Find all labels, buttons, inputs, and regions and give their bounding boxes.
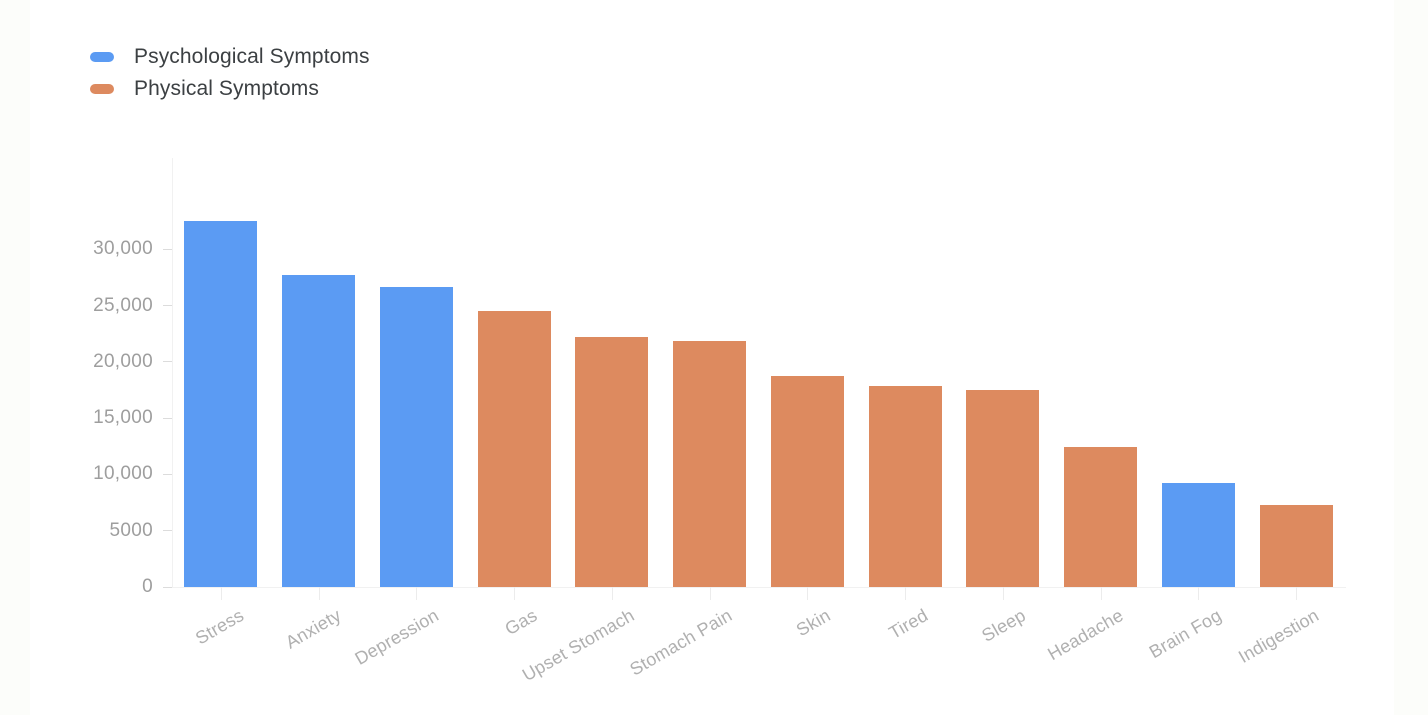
legend-item-label: Psychological Symptoms [134,45,370,69]
y-axis-tick-mark [163,474,172,475]
y-axis-tick-mark [163,587,172,588]
bar[interactable] [966,390,1039,588]
bar[interactable] [1162,483,1235,587]
x-axis-tick-mark [1003,587,1004,600]
x-axis-tick-mark [221,587,222,600]
chart-legend: Psychological SymptomsPhysical Symptoms [90,44,370,102]
y-axis-tick-label: 10,000 [93,463,153,485]
y-axis-tick-label: 20,000 [93,351,153,373]
bar[interactable] [1260,505,1333,587]
x-axis-tick-mark [905,587,906,600]
bar[interactable] [869,386,942,587]
y-axis-tick-mark [163,530,172,531]
bar[interactable] [184,221,257,587]
bar-slot: Brain Fog [1162,210,1235,587]
x-axis-tick-mark [319,587,320,600]
legend-item-label: Physical Symptoms [134,77,319,101]
bar-slot: Tired [869,210,942,587]
x-axis-tick-mark [1296,587,1297,600]
bar-slot: Anxiety [282,210,355,587]
bar[interactable] [575,337,648,587]
left-edge-band [0,0,30,715]
x-axis-category-label: Depression [352,605,443,670]
y-axis-tick-mark [163,249,172,250]
y-axis-tick-mark [163,418,172,419]
bar-slot: Depression [380,210,453,587]
x-axis-tick-mark [807,587,808,600]
bar-slot: Sleep [966,210,1039,587]
y-axis-tick-label: 5000 [110,520,153,542]
y-axis-tick: 30,000 [93,238,172,260]
y-axis-tick: 25,000 [93,295,172,317]
x-axis-category-label: Indigestion [1235,605,1323,668]
legend-item[interactable]: Physical Symptoms [90,76,370,102]
bar[interactable] [771,376,844,587]
x-axis-category-label: Skin [792,605,834,641]
x-axis-category-label: Stomach Pain [626,605,736,680]
y-axis-tick: 0 [142,576,172,598]
x-axis-line [172,587,1346,588]
bar-slot: Headache [1064,210,1137,587]
bar[interactable] [380,287,453,587]
x-axis-category-label: Tired [885,605,931,644]
right-edge-band [1394,0,1428,715]
legend-pill-swatch [90,84,114,94]
x-axis-tick-mark [416,587,417,600]
x-axis-tick-mark [612,587,613,600]
x-axis-tick-mark [1198,587,1199,600]
y-axis-tick: 10,000 [93,463,172,485]
bar[interactable] [1064,447,1137,587]
x-axis-category-label: Stress [192,605,248,649]
x-axis-category-label: Headache [1044,605,1127,665]
bar-series-container: StressAnxietyDepressionGasUpset StomachS… [172,210,1345,587]
bar-chart: Psychological SymptomsPhysical Symptoms … [0,0,1428,715]
plot-area: 0500010,00015,00020,00025,00030,000 Stre… [172,210,1345,587]
bar[interactable] [673,341,746,587]
legend-item[interactable]: Psychological Symptoms [90,44,370,70]
bar-slot: Stress [184,210,257,587]
y-axis-tick: 20,000 [93,351,172,373]
y-axis-tick: 15,000 [93,407,172,429]
y-axis-tick-label: 30,000 [93,238,153,260]
x-axis-tick-mark [1101,587,1102,600]
x-axis-category-label: Brain Fog [1145,605,1225,663]
x-axis-tick-mark [710,587,711,600]
legend-pill-swatch [90,52,114,62]
bar[interactable] [282,275,355,587]
y-axis-tick-label: 25,000 [93,295,153,317]
x-axis-category-label: Gas [501,605,541,640]
bar[interactable] [478,311,551,587]
x-axis-category-label: Sleep [978,605,1029,647]
y-axis-tick-mark [163,361,172,362]
bar-slot: Skin [771,210,844,587]
y-axis-tick: 5000 [110,520,172,542]
bar-slot: Gas [478,210,551,587]
y-axis-tick-mark [163,305,172,306]
bar-slot: Upset Stomach [575,210,648,587]
x-axis-tick-mark [514,587,515,600]
y-axis-tick-label: 0 [142,576,153,598]
bar-slot: Indigestion [1260,210,1333,587]
bar-slot: Stomach Pain [673,210,746,587]
x-axis-category-label: Anxiety [282,605,345,653]
y-axis-tick-label: 15,000 [93,407,153,429]
